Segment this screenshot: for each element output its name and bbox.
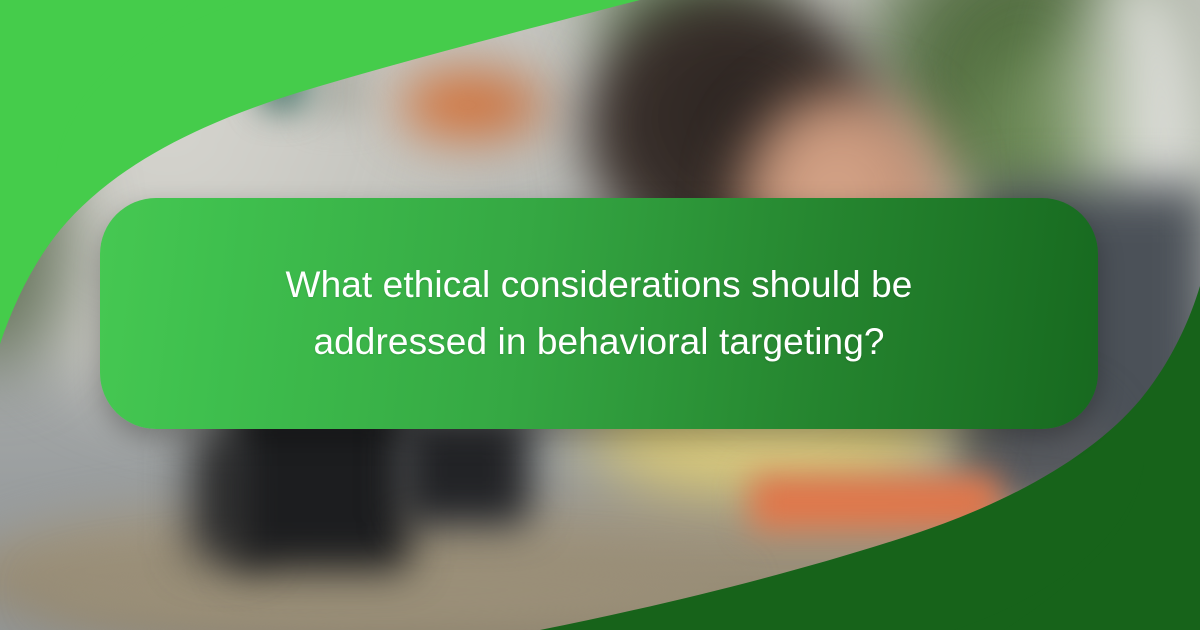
quote-card-graphic: What ethical considerations should be ad… (0, 0, 1200, 630)
quote-card: What ethical considerations should be ad… (100, 198, 1098, 429)
bg-desk-notebook (750, 475, 1000, 530)
bg-wall-frame (146, 52, 176, 82)
bg-shelf-object-orange (400, 70, 550, 140)
question-text: What ethical considerations should be ad… (249, 257, 949, 369)
bg-wall-frame (80, 30, 150, 90)
bg-shelf-object (260, 66, 308, 106)
bg-wall-frame (312, 52, 368, 118)
bg-desk-camera (400, 415, 530, 525)
